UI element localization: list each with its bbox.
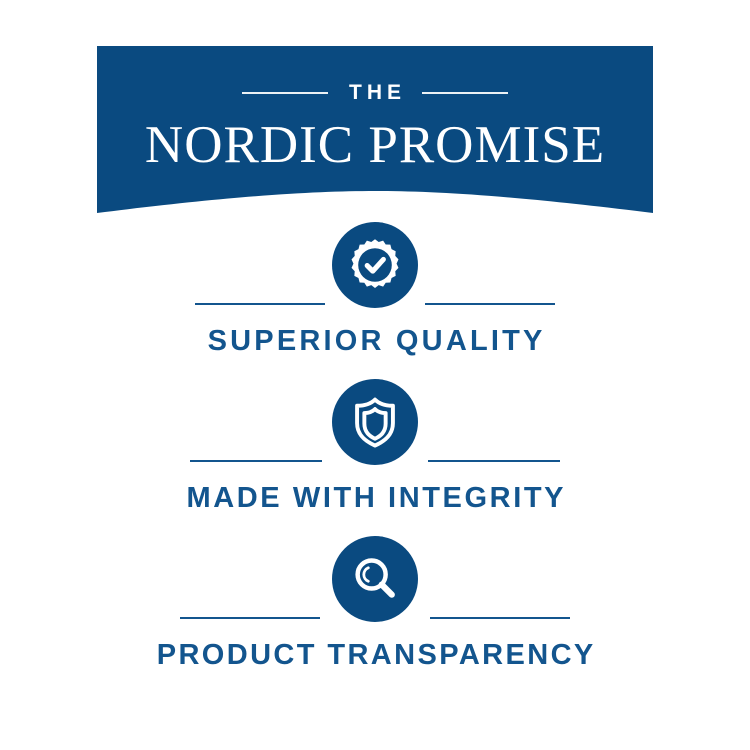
banner-eyebrow-text: THE: [344, 82, 406, 103]
promise-label: PRODUCT TRANSPARENCY: [0, 640, 750, 672]
promise-row: SUPERIOR QUALITY: [0, 222, 750, 379]
eyebrow-rule-right-icon: [422, 92, 508, 94]
banner: THE NORDIC PROMISE: [97, 46, 653, 216]
divider-line-left: [190, 460, 322, 462]
divider-line-right: [428, 460, 560, 462]
promise-label: SUPERIOR QUALITY: [0, 326, 750, 358]
eyebrow-rule-left-icon: [242, 92, 328, 94]
promise-row: PRODUCT TRANSPARENCY: [0, 536, 750, 693]
promise-label: MADE WITH INTEGRITY: [0, 483, 750, 515]
divider-line-left: [180, 617, 320, 619]
shield-icon: [332, 379, 418, 465]
nordic-promise-poster: THE NORDIC PROMISE: [0, 0, 750, 750]
icon-band: [0, 536, 750, 644]
divider-line-right: [425, 303, 555, 305]
banner-title: NORDIC PROMISE: [145, 119, 605, 172]
banner-content: THE NORDIC PROMISE: [97, 46, 653, 216]
divider-line-right: [430, 617, 570, 619]
promise-row: MADE WITH INTEGRITY: [0, 379, 750, 536]
icon-band: [0, 222, 750, 330]
magnifying-glass-icon: [332, 536, 418, 622]
promise-list: SUPERIOR QUALITY MADE WITH INTEGRITY: [0, 222, 750, 693]
banner-eyebrow-row: THE: [97, 82, 653, 103]
divider-line-left: [195, 303, 325, 305]
badge-check-icon: [332, 222, 418, 308]
icon-band: [0, 379, 750, 487]
